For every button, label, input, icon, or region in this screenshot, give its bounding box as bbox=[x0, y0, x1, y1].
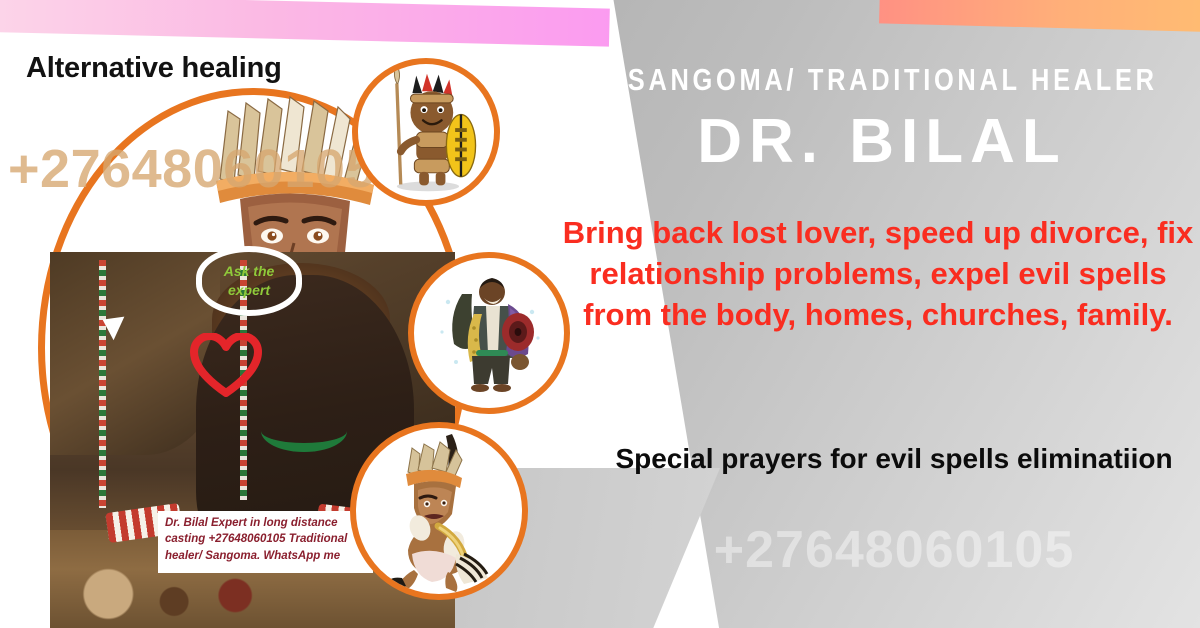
page-title: Alternative healing bbox=[26, 52, 282, 85]
photo-beads-left bbox=[99, 260, 106, 508]
bubble-label: Ask the expert bbox=[206, 262, 292, 300]
photo-phone-watermark: +27648060105 bbox=[8, 138, 376, 200]
circle-inset-crouching-dancer bbox=[350, 422, 528, 600]
photo-caption-text: Dr. Bilal Expert in long distance castin… bbox=[165, 515, 367, 564]
phone-number-watermark: +27648060105 bbox=[588, 520, 1200, 580]
bubble-tail bbox=[103, 317, 128, 342]
ask-the-expert-bubble: Ask the expert bbox=[196, 246, 302, 316]
photo-caption: Dr. Bilal Expert in long distance castin… bbox=[158, 511, 373, 573]
heart-outline-icon bbox=[190, 333, 262, 397]
right-text-column: SANGOMA/ TRADITIONAL HEALER DR. BILAL Br… bbox=[548, 0, 1200, 628]
photo-necklace bbox=[261, 410, 347, 452]
circle-inset-robed-healer bbox=[408, 252, 570, 414]
prayers-text: Special prayers for evil spells eliminat… bbox=[594, 440, 1194, 478]
services-text: Bring back lost lover, speed up divorce,… bbox=[558, 212, 1198, 336]
poster-canvas: Alternative healing bbox=[0, 0, 1200, 628]
healer-name: DR. BILAL bbox=[572, 106, 1192, 177]
kicker-text: SANGOMA/ TRADITIONAL HEALER bbox=[628, 62, 1136, 98]
circle-inset-zulu-warrior-boy bbox=[352, 58, 500, 206]
